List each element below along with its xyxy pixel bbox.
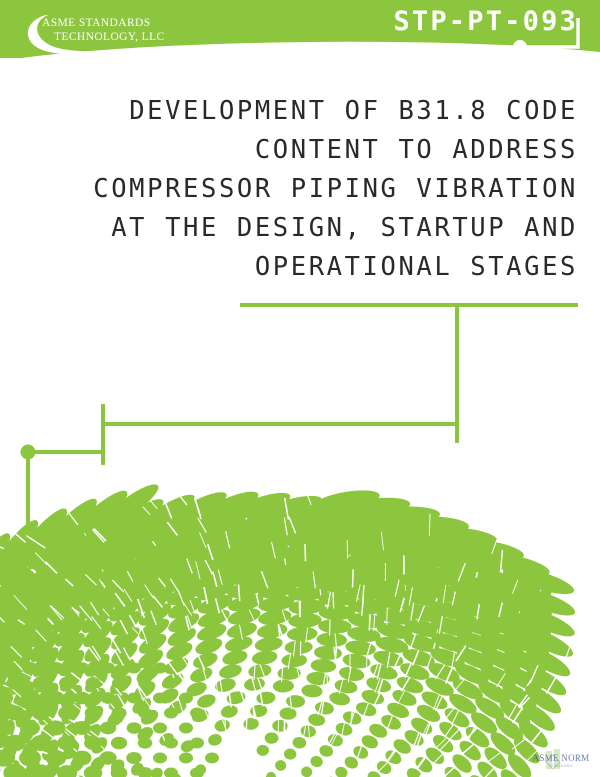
circuit-lines <box>28 305 578 700</box>
title-line: DEVELOPMENT OF B31.8 CODE <box>22 92 578 131</box>
bottom-node-dot <box>15 689 41 712</box>
watermark-text: ASME NORM <box>530 753 592 763</box>
left-node-dot <box>21 445 36 460</box>
title-line: COMPRESSOR PIPING VIBRATION <box>22 170 578 209</box>
title-line: CONTENT TO ADDRESS <box>22 131 578 170</box>
asme-standards-technology-logo: ASME STANDARDS TECHNOLOGY, LLC <box>18 11 178 55</box>
document-cover-page: ASME STANDARDS TECHNOLOGY, LLC STP-PT-09… <box>0 0 600 777</box>
document-number: STP-PT-093 <box>393 8 578 35</box>
watermark-subtext: STANDARD <box>530 764 592 768</box>
title-line: OPERATIONAL STAGES <box>22 248 578 287</box>
asme-norm-watermark: ASME NORM STANDARD <box>530 749 592 773</box>
page-title: DEVELOPMENT OF B31.8 CODE CONTENT TO ADD… <box>22 92 578 287</box>
logo-line-2: TECHNOLOGY, LLC <box>54 31 165 43</box>
logo-line-1: ASME STANDARDS <box>42 17 151 29</box>
title-line: AT THE DESIGN, STARTUP AND <box>22 209 578 248</box>
